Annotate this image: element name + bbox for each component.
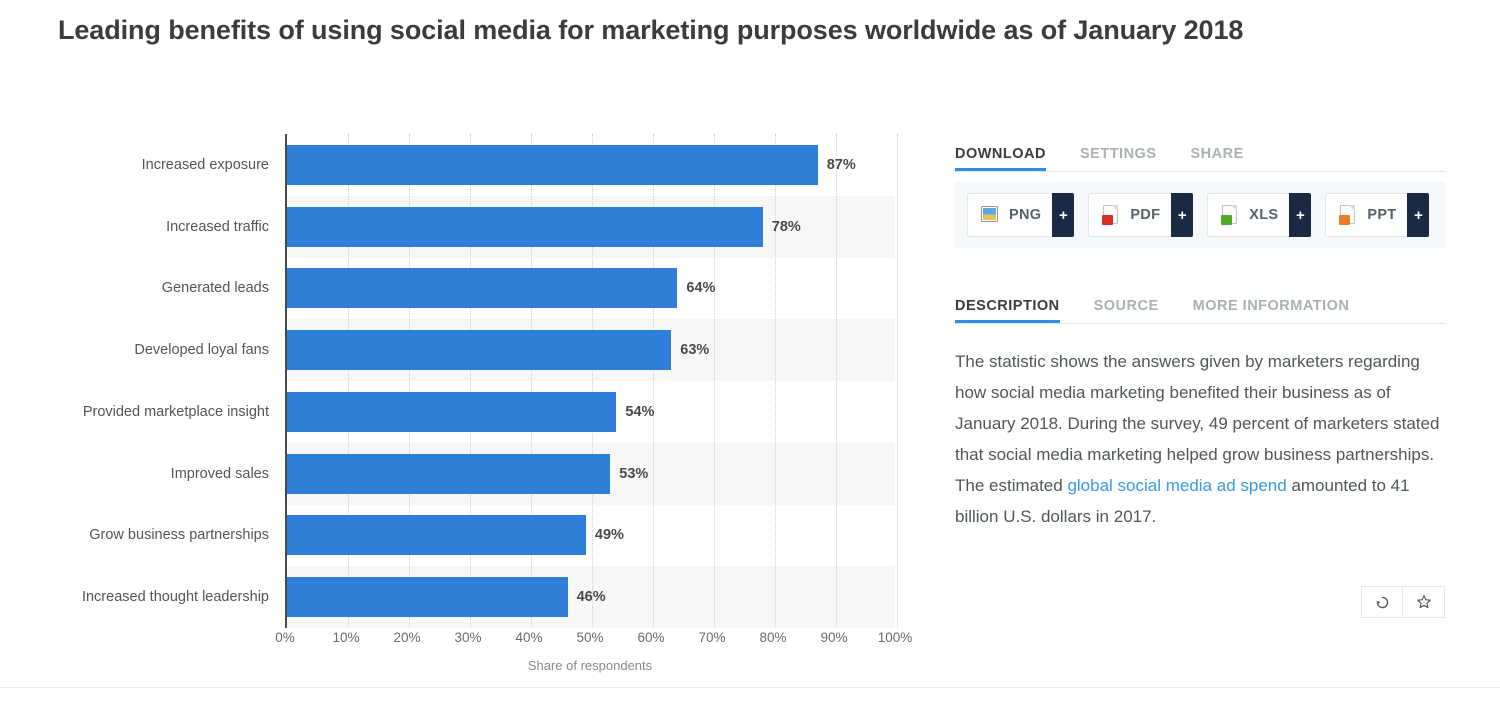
- tab-more-information[interactable]: MORE INFORMATION: [1193, 298, 1350, 323]
- tab-download[interactable]: DOWNLOAD: [955, 146, 1046, 171]
- ppt-file-icon: [1338, 204, 1358, 226]
- download-label: XLS: [1249, 207, 1278, 223]
- secondary-tabbar: DESCRIPTIONSOURCEMORE INFORMATION: [955, 286, 1445, 324]
- primary-tabbar: DOWNLOADSETTINGSSHARE: [955, 134, 1445, 172]
- category-label: Increased exposure: [0, 134, 275, 196]
- bar-row: 87%: [287, 134, 895, 196]
- category-label: Grow business partnerships: [0, 505, 275, 567]
- plot-area: 87%78%64%63%54%53%49%46%: [285, 134, 895, 628]
- bar[interactable]: [287, 577, 568, 617]
- bar-row: 78%: [287, 196, 895, 258]
- bar[interactable]: [287, 392, 616, 432]
- tab-description[interactable]: DESCRIPTION: [955, 298, 1060, 323]
- bar[interactable]: [287, 515, 586, 555]
- x-tick-label: 60%: [637, 630, 664, 645]
- bar-value-label: 64%: [686, 280, 715, 296]
- category-label: Generated leads: [0, 258, 275, 320]
- x-tick-label: 30%: [454, 630, 481, 645]
- download-label: PDF: [1130, 207, 1160, 223]
- bar-value-label: 63%: [680, 342, 709, 358]
- x-tick-label: 10%: [332, 630, 359, 645]
- download-buttons-row: PNG+PDF+XLS+PPT+: [955, 182, 1445, 248]
- statista-chart-page: Leading benefits of using social media f…: [0, 0, 1500, 704]
- png-file-icon: [980, 204, 1000, 226]
- x-axis-ticks: 0%10%20%30%40%50%60%70%80%90%100%: [285, 630, 895, 656]
- download-ppt-button[interactable]: PPT+: [1325, 193, 1429, 237]
- bar[interactable]: [287, 268, 677, 308]
- bar-row: 53%: [287, 443, 895, 505]
- bar-row: 54%: [287, 381, 895, 443]
- bar[interactable]: [287, 454, 610, 494]
- page-title: Leading benefits of using social media f…: [58, 6, 1358, 54]
- pdf-file-icon: [1101, 204, 1121, 226]
- description-part1: The statistic shows the answers given by…: [955, 352, 1439, 495]
- history-button[interactable]: [1361, 586, 1403, 618]
- bar-value-label: 53%: [619, 466, 648, 482]
- x-tick-label: 0%: [275, 630, 295, 645]
- tab-settings[interactable]: SETTINGS: [1080, 146, 1157, 171]
- download-ppt-options-button[interactable]: +: [1407, 193, 1429, 237]
- download-xls-button[interactable]: XLS+: [1207, 193, 1311, 237]
- ad-spend-link[interactable]: global social media ad spend: [1067, 476, 1286, 495]
- category-label: Increased traffic: [0, 196, 275, 258]
- x-tick-label: 50%: [576, 630, 603, 645]
- chart-container: Increased exposureIncreased trafficGener…: [0, 130, 930, 690]
- side-panel: DOWNLOADSETTINGSSHARE PNG+PDF+XLS+PPT+ D…: [955, 134, 1445, 634]
- category-label: Increased thought leadership: [0, 566, 275, 628]
- history-icon: [1375, 595, 1390, 610]
- bar-rows: 87%78%64%63%54%53%49%46%: [287, 134, 895, 628]
- bar-row: 63%: [287, 319, 895, 381]
- star-icon: [1416, 594, 1432, 610]
- category-label: Developed loyal fans: [0, 319, 275, 381]
- bar-value-label: 54%: [625, 404, 654, 420]
- bar-value-label: 87%: [827, 157, 856, 173]
- bar-row: 64%: [287, 258, 895, 320]
- xls-file-icon: [1220, 204, 1240, 226]
- tab-source[interactable]: SOURCE: [1094, 298, 1159, 323]
- gridline: [897, 134, 898, 628]
- category-axis-labels: Increased exposureIncreased trafficGener…: [0, 134, 275, 628]
- favorite-button[interactable]: [1403, 586, 1445, 618]
- x-tick-label: 20%: [393, 630, 420, 645]
- bar-row: 49%: [287, 505, 895, 567]
- x-tick-label: 80%: [759, 630, 786, 645]
- tab-share[interactable]: SHARE: [1191, 146, 1244, 171]
- download-label: PNG: [1009, 207, 1041, 223]
- bar-value-label: 49%: [595, 527, 624, 543]
- bar-value-label: 78%: [772, 219, 801, 235]
- bar[interactable]: [287, 330, 671, 370]
- x-tick-label: 40%: [515, 630, 542, 645]
- x-axis-title: Share of respondents: [285, 658, 895, 673]
- download-label: PPT: [1367, 207, 1396, 223]
- bar-value-label: 46%: [577, 589, 606, 605]
- download-png-button[interactable]: PNG+: [967, 193, 1074, 237]
- download-pdf-button[interactable]: PDF+: [1088, 193, 1193, 237]
- bar-row: 46%: [287, 566, 895, 628]
- x-tick-label: 70%: [698, 630, 725, 645]
- x-tick-label: 90%: [820, 630, 847, 645]
- download-xls-options-button[interactable]: +: [1289, 193, 1311, 237]
- x-tick-label: 100%: [878, 630, 913, 645]
- category-label: Provided marketplace insight: [0, 381, 275, 443]
- bar[interactable]: [287, 207, 763, 247]
- action-buttons: [1361, 586, 1445, 618]
- footer-divider: [0, 687, 1500, 688]
- download-png-options-button[interactable]: +: [1052, 193, 1074, 237]
- bar[interactable]: [287, 145, 818, 185]
- description-text: The statistic shows the answers given by…: [955, 346, 1440, 532]
- download-pdf-options-button[interactable]: +: [1171, 193, 1193, 237]
- category-label: Improved sales: [0, 443, 275, 505]
